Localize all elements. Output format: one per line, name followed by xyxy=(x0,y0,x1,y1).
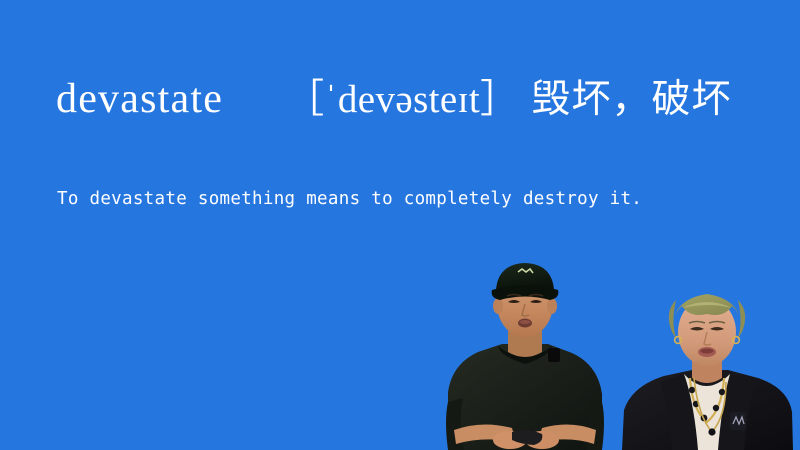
definition-text: To devastate something means to complete… xyxy=(57,189,642,209)
vocabulary-slide: devastate ［ˈdevəsteɪt］ 毁坏，破坏 To devastat… xyxy=(0,0,800,450)
presenter-man-figure xyxy=(430,252,620,450)
headword-row: devastate ［ˈdevəsteɪt］ 毁坏，破坏 xyxy=(56,68,731,124)
presenter-video-man xyxy=(430,252,620,450)
chinese-gloss: 毁坏，破坏 xyxy=(531,68,731,124)
phonetic-transcription: ［ˈdevəsteɪt］ xyxy=(285,68,519,124)
presenter-video-woman xyxy=(612,282,800,450)
lapel-mic-icon xyxy=(548,348,560,362)
headword-text: devastate xyxy=(56,75,223,123)
presenter-woman-figure xyxy=(612,282,800,450)
